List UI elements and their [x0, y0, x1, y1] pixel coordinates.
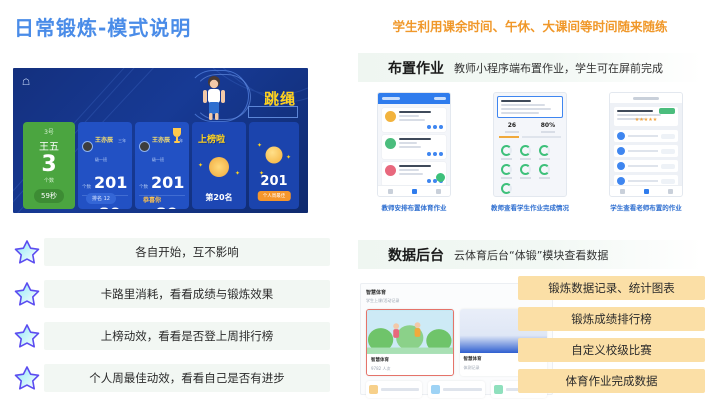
list-item	[382, 135, 446, 159]
list-item[interactable]	[614, 145, 678, 157]
slide-page: 日常锻炼-模式说明 ☖ 跳绳	[0, 0, 710, 419]
card-calorie-value: 80	[99, 204, 121, 209]
star-icon	[13, 238, 41, 266]
phone-nav-bar	[610, 93, 682, 103]
sunburst-icon	[209, 157, 229, 177]
leaderboard-rank-value: 第20名	[192, 192, 246, 203]
filter-row[interactable]	[494, 133, 566, 141]
hero-screenshot: ☖ 跳绳 3号 王五 3 个数 5	[13, 68, 308, 213]
ring-item	[537, 164, 552, 179]
star-icon	[13, 364, 41, 392]
home-icon[interactable]: ☖	[22, 79, 31, 88]
star-icon	[13, 322, 41, 350]
stat-item: 80%	[541, 122, 555, 133]
student-card-blue-2[interactable]: 王亦辰 三年级一班 个数 201 卡路里	[135, 122, 189, 209]
sparkle-icon: ✦	[257, 142, 262, 149]
avatar	[385, 165, 396, 176]
card-rank-pill: 排名 12	[86, 193, 116, 204]
personal-best-card[interactable]: ✦ ✦ ✦ 201 个人周最佳	[249, 122, 299, 209]
card-title: 智慧体育	[371, 357, 449, 363]
dashboard-card-selected[interactable]: 智慧体育 9782 人次	[366, 309, 454, 376]
left-column: 日常锻炼-模式说明 ☖ 跳绳	[0, 0, 350, 419]
section-title: 数据后台	[388, 245, 444, 265]
card-count-row: 个数 201	[139, 173, 185, 192]
card-count-row: 个数 201	[82, 173, 128, 192]
avatar	[385, 111, 396, 122]
leaderboard-animation-card[interactable]: 上榜啦 ✦ ✦ 第20名	[192, 122, 246, 209]
sparkle-icon: ✦	[235, 170, 240, 177]
right-column: 学生利用课余时间、午休、大课间等时间随来随练 布置作业 教师小程序端布置作业，学…	[350, 0, 710, 419]
phone-caption: 教师查看学生作业完成情况	[491, 202, 569, 212]
card-calorie-row: 卡路里 80	[82, 204, 128, 209]
leaderboard-title: 上榜啦	[198, 132, 225, 145]
section-description: 云体育后台“体锻”模块查看数据	[454, 247, 608, 263]
sparkle-icon: ✦	[198, 162, 203, 169]
headline-text: 学生利用课余时间、午休、大课间等时间随来随练	[350, 16, 710, 35]
star-icon	[13, 280, 41, 308]
stats-row: 26 80%	[494, 122, 566, 133]
card-header: 王亦辰 三年级一班	[82, 127, 128, 165]
feature-label-homework-data: 体育作业完成数据	[518, 369, 705, 393]
feature-label-data-chart: 锻炼数据记录、统计图表	[518, 276, 705, 300]
list-item-label: 个人周最佳动效，看看自己是否有进步	[44, 364, 330, 392]
phone-caption: 学生查看老师布置的作业	[610, 202, 682, 212]
action-dots[interactable]	[399, 125, 443, 129]
avatar	[139, 141, 150, 152]
phone-item: ★★★★★ 学生查看老师布置的作业	[596, 92, 696, 217]
list-item: 个人周最佳动效，看看自己是否有进步	[0, 358, 350, 400]
ring-item	[499, 183, 514, 197]
page-title: 日常锻炼-模式说明	[14, 12, 191, 41]
assignment-card: ★★★★★	[614, 107, 678, 126]
add-button[interactable]	[436, 173, 445, 182]
smiley-face-icon	[266, 147, 283, 164]
section-title: 布置作业	[388, 58, 444, 78]
text-lines	[501, 100, 559, 114]
student-card-blue-1[interactable]: 王亦辰 三年级一班 个数 201 卡路里 80 排名 12	[78, 122, 132, 209]
personal-best-tag: 个人周最佳	[258, 191, 291, 201]
text-lines	[399, 138, 443, 156]
card-count-value: 201	[94, 173, 127, 192]
card-count-label: 个数	[82, 184, 91, 190]
summary-card	[497, 96, 563, 118]
list-item-label: 各自开始，互不影响	[44, 238, 330, 266]
card-count-value: 3	[41, 153, 56, 177]
phone-screenshot-1	[377, 92, 451, 197]
ring-item	[499, 164, 514, 179]
card-illustration	[367, 310, 453, 354]
stat-item: 26	[505, 122, 519, 133]
phone-screenshot-2: 26 80%	[493, 92, 567, 197]
phone-item: 26 80%	[480, 92, 580, 217]
runners-illustration	[367, 310, 453, 354]
section-header-assign: 布置作业 教师小程序端布置作业，学生可在屏前完成	[358, 53, 702, 82]
card-timer: 59秒	[34, 189, 64, 203]
ring-item	[499, 145, 514, 160]
phone-screenshot-3: ★★★★★	[609, 92, 683, 197]
hero-title-underbox	[248, 106, 298, 118]
card-meta: 智慧体育 9782 人次	[367, 354, 453, 375]
avatar	[385, 138, 396, 149]
student-ring-grid	[494, 141, 566, 197]
phone-tab-bar[interactable]	[610, 185, 682, 196]
dashboard-tile-class[interactable]	[428, 381, 484, 398]
list-item-label: 上榜动效，看看是否登上周排行榜	[44, 322, 330, 350]
dashboard-tile-teaching[interactable]	[366, 381, 422, 398]
sparkle-icon: ✦	[286, 154, 291, 161]
action-dots[interactable]	[399, 152, 443, 156]
card-rank: 3号	[44, 127, 54, 136]
list-item: 上榜动效，看看是否登上周排行榜	[0, 316, 350, 358]
card-calorie-row: 卡路里 80	[139, 204, 185, 209]
feature-label-custom-contest: 自定义校级比赛	[518, 338, 705, 362]
feature-label-leaderboard: 锻炼成绩排行榜	[518, 307, 705, 331]
trophy-icon	[169, 126, 185, 146]
card-congrats-tag: 恭喜你	[143, 195, 161, 204]
section-header-dashboard: 数据后台 云体育后台“体锻”模块查看数据	[358, 240, 702, 269]
card-calorie-value: 80	[156, 204, 178, 209]
card-student-name: 王亦辰	[152, 137, 170, 144]
card-name-block: 王亦辰 三年级一班	[95, 127, 128, 165]
skipping-student-illustration	[196, 73, 232, 121]
card-count-unit: 个数	[44, 177, 54, 184]
list-item: 各自开始，互不影响	[0, 232, 350, 274]
list-item[interactable]	[614, 160, 678, 172]
student-card-green[interactable]: 3号 王五 3 个数 59秒	[23, 122, 75, 209]
card-stats: 9782 人次	[371, 366, 449, 372]
list-item-label: 卡路里消耗，看看成绩与锻炼效果	[44, 280, 330, 308]
card-student-name: 王五	[39, 138, 59, 153]
card-count-label: 个数	[139, 184, 148, 190]
card-count-value: 201	[151, 173, 184, 192]
phone-caption: 教师安排布置体育作业	[382, 202, 447, 212]
personal-best-value: 201	[249, 174, 299, 189]
card-student-name: 王亦辰	[95, 137, 113, 144]
section-description: 教师小程序端布置作业，学生可在屏前完成	[454, 60, 663, 76]
status-badge	[659, 108, 675, 114]
hero-cards-row: 3号 王五 3 个数 59秒 王亦辰 三年级一班 个数	[23, 122, 300, 209]
ring-item	[518, 164, 533, 179]
feature-bullet-list: 各自开始，互不影响 卡路里消耗，看看成绩与锻炼效果 上榜动效，看看是否登上周排行…	[0, 232, 350, 400]
phone-tab-bar[interactable]	[378, 185, 450, 196]
ring-item	[537, 145, 552, 160]
ring-item	[518, 145, 533, 160]
phone-item: 教师安排布置体育作业	[364, 92, 464, 217]
avatar	[82, 141, 93, 152]
text-lines	[399, 111, 443, 129]
list-item	[382, 108, 446, 132]
list-item: 卡路里消耗，看看成绩与锻炼效果	[0, 274, 350, 316]
phone-status-bar	[378, 93, 450, 104]
phone-screenshot-group: 教师安排布置体育作业 26 80%	[364, 92, 704, 217]
list-item[interactable]	[614, 130, 678, 142]
